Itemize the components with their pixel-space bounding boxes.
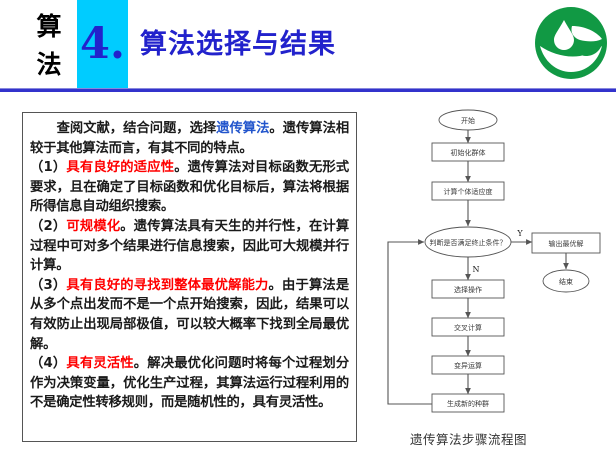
highlight-term-blue: 遗传算法 <box>216 121 269 136</box>
flow-node-init: 初始化群体 <box>432 143 504 161</box>
body-paragraph: （4）具有灵活性。解决最优化问题时将每个过程划分作为决策变量，优化生产过程，其算… <box>30 354 349 413</box>
flow-node-init-label: 初始化群体 <box>451 148 486 157</box>
body-paragraph: （3）具有良好的寻找到整体最优解能力。由于算法是从多个点出发而不是一个点开始搜索… <box>30 276 349 354</box>
body-text-run: 查阅文献，结合问题，选择 <box>57 121 217 136</box>
flow-node-decision-label: 判断是否满足终止条件？ <box>430 238 507 247</box>
flow-node-output-label: 输出最优解 <box>549 239 584 248</box>
header-section-number: 4. <box>77 0 128 88</box>
body-text-run: （4） <box>30 356 66 371</box>
highlight-term-red: 具有良好的寻找到整体最优解能力 <box>66 278 268 293</box>
flow-node-select-label: 选择操作 <box>454 285 482 294</box>
body-text-run: （2） <box>30 219 66 234</box>
flow-node-new-population-label: 生成新的种群 <box>447 399 489 408</box>
flow-branch-no-label: N <box>473 265 480 274</box>
header-kicker-line-2: 法 <box>24 46 74 84</box>
content-text-box: 查阅文献，结合问题，选择遗传算法。遗传算法相较于其他算法而言，有其不同的特点。（… <box>22 112 357 442</box>
flow-node-mutation-label: 变异运算 <box>454 361 482 370</box>
flow-node-end-label: 结束 <box>559 277 573 286</box>
flow-node-output: 输出最优解 <box>532 233 600 253</box>
body-paragraph: （1）具有良好的适应性。遗传算法对目标函数无形式要求，且在确定了目标函数和优化目… <box>30 158 349 217</box>
flow-node-crossover: 交叉计算 <box>432 318 504 336</box>
flow-node-select: 选择操作 <box>432 280 504 298</box>
header-number-block: 4. <box>77 0 128 88</box>
flow-node-mutation: 变异运算 <box>432 356 504 374</box>
highlight-term-red: 可规模化 <box>66 219 120 234</box>
body-text-run: （3） <box>30 278 66 293</box>
flow-branch-yes-label: Y <box>516 229 523 238</box>
header-kicker: 算 法 <box>24 8 74 84</box>
flow-node-start: 开始 <box>439 110 497 130</box>
body-text-run: （1） <box>30 160 66 175</box>
water-drop-logo <box>534 6 608 80</box>
page-title: 算法选择与结果 <box>140 22 336 61</box>
flow-node-decision: 判断是否满足终止条件？ <box>425 227 511 257</box>
flow-node-new-population: 生成新的种群 <box>432 394 504 412</box>
highlight-term-red: 具有良好的适应性 <box>66 160 174 175</box>
flow-node-start-label: 开始 <box>461 116 475 125</box>
body-paragraph: 查阅文献，结合问题，选择遗传算法。遗传算法相较于其他算法而言，有其不同的特点。 <box>30 119 349 158</box>
flow-node-fitness: 计算个体适应度 <box>432 182 504 200</box>
genetic-algorithm-flowchart: 开始 初始化群体 计算个体适应度 判断是否满足终止条件？ Y N 输出最优解 结… <box>380 104 616 424</box>
header-kicker-line-1: 算 <box>24 8 74 46</box>
highlight-term-red: 具有灵活性 <box>66 356 133 371</box>
body-paragraph: （2）可规模化。遗传算法具有天生的并行性，在计算过程中可对多个结果进行信息搜索，… <box>30 217 349 276</box>
flow-node-fitness-label: 计算个体适应度 <box>444 187 493 196</box>
paragraph-list: 查阅文献，结合问题，选择遗传算法。遗传算法相较于其他算法而言，有其不同的特点。（… <box>30 119 349 413</box>
slide-header: 算 法 4. 算法选择与结果 <box>0 0 616 92</box>
flow-node-end: 结束 <box>543 270 589 292</box>
header-divider <box>0 88 616 92</box>
flow-node-crossover-label: 交叉计算 <box>454 323 482 332</box>
flowchart-caption: 遗传算法步骤流程图 <box>410 429 527 448</box>
